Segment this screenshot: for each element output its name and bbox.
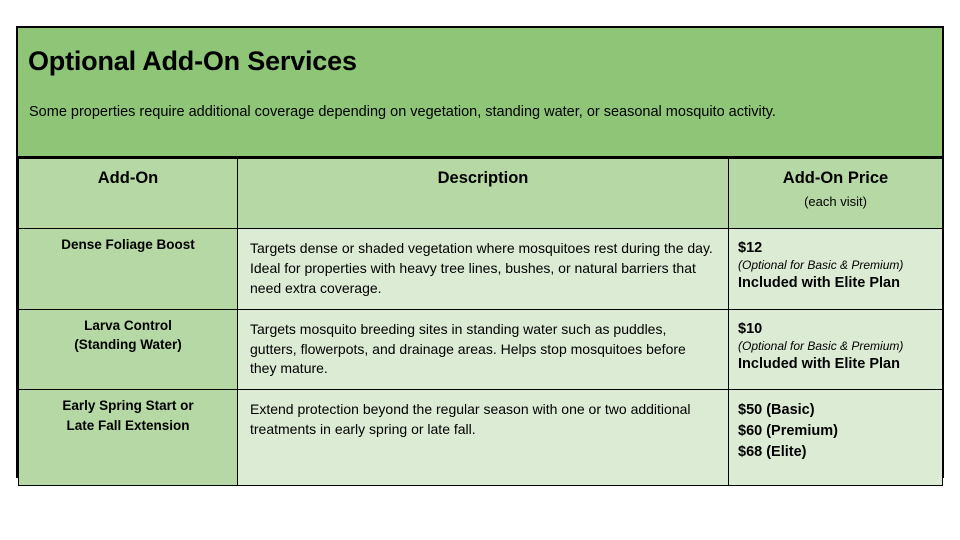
table-header: Add-On Description Add-On Price (each vi… xyxy=(19,159,943,229)
addon-price-cell: $50 (Basic)$60 (Premium)$68 (Elite) xyxy=(729,390,943,486)
table-header-row: Add-On Description Add-On Price (each vi… xyxy=(19,159,943,229)
addon-name-cell: Dense Foliage Boost xyxy=(19,229,238,310)
page-subtitle: Some properties require additional cover… xyxy=(28,77,932,122)
addon-price-included: Included with Elite Plan xyxy=(738,274,934,294)
addon-price-amount: $12 xyxy=(738,239,934,258)
addon-price-tier: $60 (Premium) xyxy=(738,421,934,442)
addon-description-cell: Targets dense or shaded vegetation where… xyxy=(238,229,729,310)
addon-services-card: Optional Add-On Services Some properties… xyxy=(16,26,944,478)
column-header-price-label: Add-On Price xyxy=(735,169,936,189)
column-header-addon-label: Add-On xyxy=(25,169,231,189)
column-header-addon: Add-On xyxy=(19,159,238,229)
addon-price-cell: $12 (Optional for Basic & Premium) Inclu… xyxy=(729,229,943,310)
table-row: Dense Foliage Boost Targets dense or sha… xyxy=(19,229,943,310)
addon-description-cell: Extend protection beyond the regular sea… xyxy=(238,390,729,486)
addon-price-tier: $68 (Elite) xyxy=(738,442,934,463)
addon-price-note: (Optional for Basic & Premium) xyxy=(738,339,934,355)
table-row: Early Spring Start orLate Fall Extension… xyxy=(19,390,943,486)
addon-name-cell: Early Spring Start orLate Fall Extension xyxy=(19,390,238,486)
table-body: Dense Foliage Boost Targets dense or sha… xyxy=(19,229,943,486)
addon-price-note: (Optional for Basic & Premium) xyxy=(738,258,934,274)
addon-price-amount: $10 xyxy=(738,320,934,339)
card-banner: Optional Add-On Services Some properties… xyxy=(18,28,942,158)
column-header-description-label: Description xyxy=(244,169,722,189)
addon-price-included: Included with Elite Plan xyxy=(738,355,934,375)
addon-description-cell: Targets mosquito breeding sites in stand… xyxy=(238,309,729,390)
addons-table: Add-On Description Add-On Price (each vi… xyxy=(18,158,943,486)
table-row: Larva Control(Standing Water) Targets mo… xyxy=(19,309,943,390)
page-title: Optional Add-On Services xyxy=(28,42,932,77)
column-header-description: Description xyxy=(238,159,729,229)
addon-name-cell: Larva Control(Standing Water) xyxy=(19,309,238,390)
column-header-price: Add-On Price (each visit) xyxy=(729,159,943,229)
column-header-price-sublabel: (each visit) xyxy=(735,189,936,210)
addon-price-cell: $10 (Optional for Basic & Premium) Inclu… xyxy=(729,309,943,390)
addon-price-tier: $50 (Basic) xyxy=(738,400,934,421)
